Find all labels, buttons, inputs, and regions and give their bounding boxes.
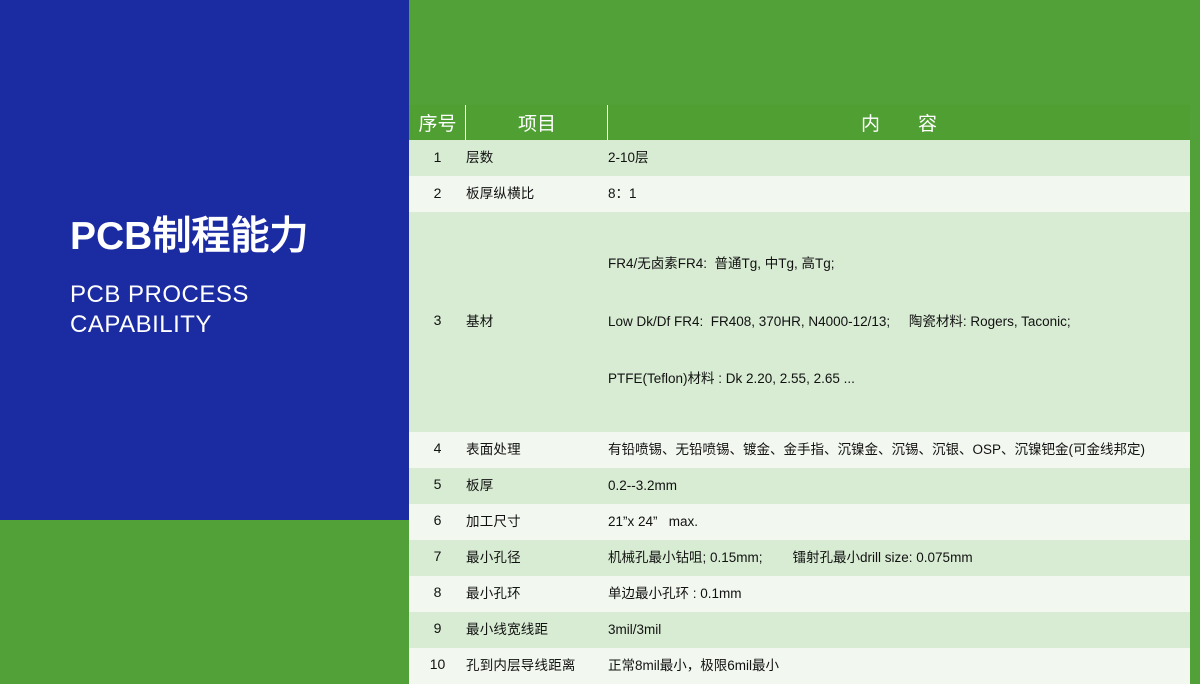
column-header-item: 项目 xyxy=(466,105,608,140)
cell-no: 10 xyxy=(409,648,466,684)
cell-no: 9 xyxy=(409,612,466,648)
table-row: 6 加工尺寸 21”x 24” max. xyxy=(409,504,1190,540)
table-row: 5 板厚 0.2--3.2mm xyxy=(409,468,1190,504)
table-row: 3 基材 FR4/无卤素FR4: 普通Tg, 中Tg, 高Tg; Low Dk/… xyxy=(409,212,1190,432)
cell-content: 21”x 24” max. xyxy=(608,504,1190,540)
cell-item: 层数 xyxy=(466,140,608,176)
spec-table-container: 序号 项目 内 容 1 层数 2-10层 2 板厚纵横比 8：1 3 xyxy=(409,105,1190,446)
cell-content: 单边最小孔环 : 0.1mm xyxy=(608,576,1190,612)
cell-no: 8 xyxy=(409,576,466,612)
table-row: 8 最小孔环 单边最小孔环 : 0.1mm xyxy=(409,576,1190,612)
cell-content-line: Low Dk/Df FR4: FR408, 370HR, N4000-12/13… xyxy=(608,312,1190,331)
title-block: PCB制程能力 PCB PROCESS CAPABILITY xyxy=(70,215,400,340)
cell-item: 最小线宽线距 xyxy=(466,612,608,648)
cell-no: 2 xyxy=(409,176,466,212)
table-row: 1 层数 2-10层 xyxy=(409,140,1190,176)
pcb-capability-table: 序号 项目 内 容 1 层数 2-10层 2 板厚纵横比 8：1 3 xyxy=(409,105,1190,684)
column-header-no: 序号 xyxy=(409,105,466,140)
cell-no: 5 xyxy=(409,468,466,504)
table-header-row: 序号 项目 内 容 xyxy=(409,105,1190,140)
cell-item: 最小孔环 xyxy=(466,576,608,612)
cell-item: 板厚 xyxy=(466,468,608,504)
cell-item: 孔到内层导线距离 xyxy=(466,648,608,684)
table-row: 9 最小线宽线距 3mil/3mil xyxy=(409,612,1190,648)
cell-item: 基材 xyxy=(466,212,608,432)
cell-content: 正常8mil最小，极限6mil最小 xyxy=(608,648,1190,684)
cell-content: 2-10层 xyxy=(608,140,1190,176)
cell-content: 3mil/3mil xyxy=(608,612,1190,648)
cell-content-line: PTFE(Teflon)材料 : Dk 2.20, 2.55, 2.65 ... xyxy=(608,369,1190,388)
page-title-en-line2: CAPABILITY xyxy=(70,310,400,340)
cell-content: 8：1 xyxy=(608,176,1190,212)
left-blue-panel: PCB制程能力 PCB PROCESS CAPABILITY xyxy=(0,0,409,520)
table-row: 2 板厚纵横比 8：1 xyxy=(409,176,1190,212)
cell-content: 有铅喷锡、无铅喷锡、镀金、金手指、沉镍金、沉锡、沉银、OSP、沉镍钯金(可金线邦… xyxy=(608,432,1190,468)
table-header: 序号 项目 内 容 xyxy=(409,105,1190,140)
cell-no: 6 xyxy=(409,504,466,540)
page-title-en: PCB PROCESS CAPABILITY xyxy=(70,280,400,340)
cell-item: 最小孔径 xyxy=(466,540,608,576)
column-header-content: 内 容 xyxy=(608,105,1190,140)
cell-no: 7 xyxy=(409,540,466,576)
cell-content: 机械孔最小钻咀; 0.15mm; 镭射孔最小drill size: 0.075m… xyxy=(608,540,1190,576)
cell-item: 板厚纵横比 xyxy=(466,176,608,212)
cell-no: 4 xyxy=(409,432,466,468)
table-row: 10 孔到内层导线距离 正常8mil最小，极限6mil最小 xyxy=(409,648,1190,684)
cell-no: 3 xyxy=(409,212,466,432)
cell-content-multiline: FR4/无卤素FR4: 普通Tg, 中Tg, 高Tg; Low Dk/Df FR… xyxy=(608,212,1190,432)
slide-root: PCB制程能力 PCB PROCESS CAPABILITY 序号 项目 内 容 xyxy=(0,0,1200,520)
cell-content-line: FR4/无卤素FR4: 普通Tg, 中Tg, 高Tg; xyxy=(608,254,1190,273)
table-row: 7 最小孔径 机械孔最小钻咀; 0.15mm; 镭射孔最小drill size:… xyxy=(409,540,1190,576)
cell-content: 0.2--3.2mm xyxy=(608,468,1190,504)
cell-item: 加工尺寸 xyxy=(466,504,608,540)
page-title-cn: PCB制程能力 xyxy=(70,215,400,260)
page-title-en-line1: PCB PROCESS xyxy=(70,280,400,310)
table-body: 1 层数 2-10层 2 板厚纵横比 8：1 3 基材 FR4/无卤素FR4: … xyxy=(409,140,1190,684)
cell-no: 1 xyxy=(409,140,466,176)
table-row: 4 表面处理 有铅喷锡、无铅喷锡、镀金、金手指、沉镍金、沉锡、沉银、OSP、沉镍… xyxy=(409,432,1190,468)
cell-item: 表面处理 xyxy=(466,432,608,468)
